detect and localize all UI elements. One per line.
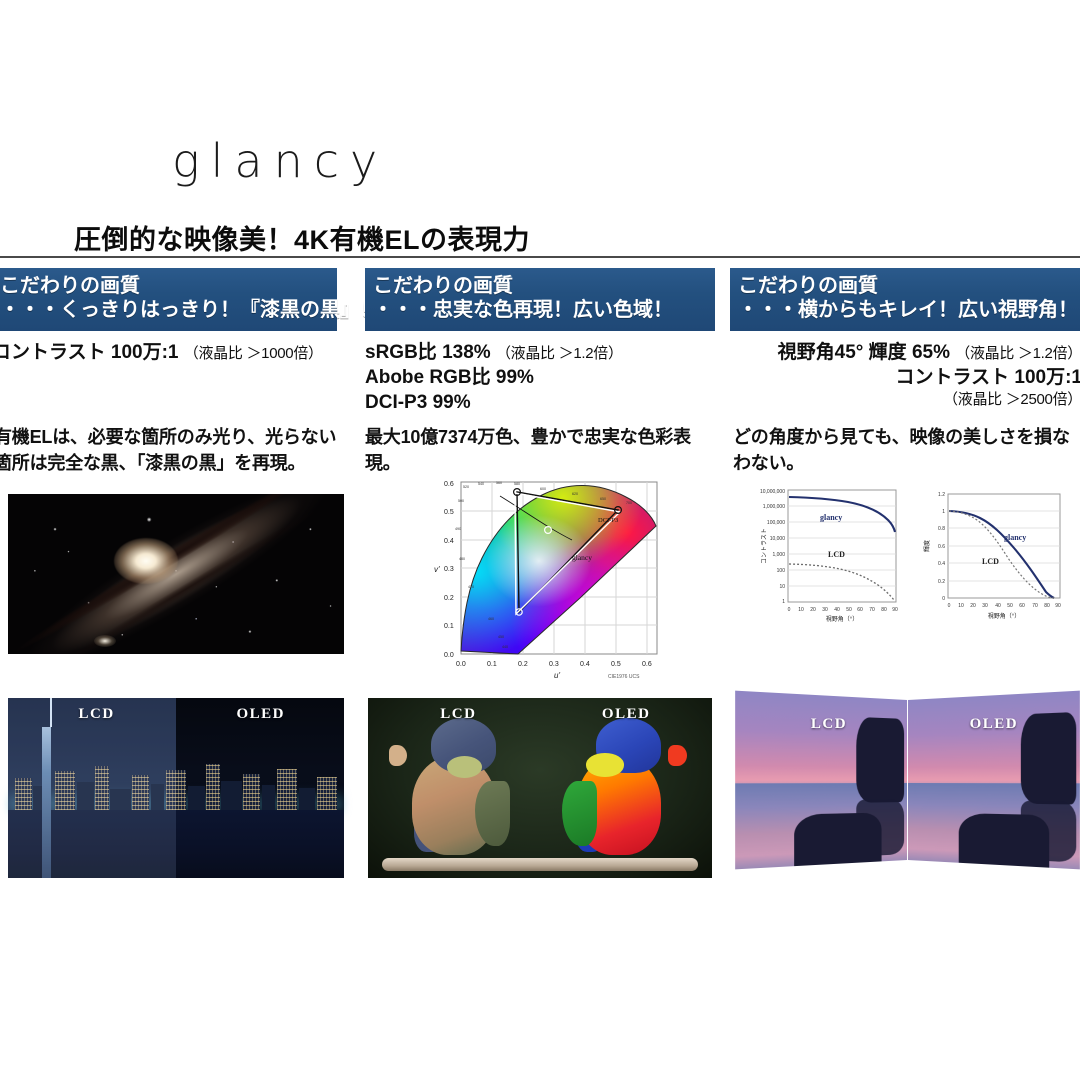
spec-block-2: sRGB比 138% （液晶比 ＞1.2倍） Abobe RGB比 99% DC… (365, 340, 717, 415)
svg-text:50: 50 (846, 607, 852, 613)
svg-text:0.4: 0.4 (938, 561, 945, 567)
parrot-beak (389, 745, 408, 766)
svg-text:650: 650 (600, 497, 606, 501)
svg-text:u': u' (554, 671, 560, 680)
svg-text:50: 50 (1007, 603, 1013, 609)
svg-text:60: 60 (857, 607, 863, 613)
svg-text:0.1: 0.1 (487, 661, 497, 668)
svg-text:80: 80 (881, 607, 887, 613)
viewing-angle-svg: glancy LCD 10,000,0001,000,000 100,00010… (736, 482, 1078, 648)
cie-svg: DCI-P3 glancy 520540560 580600620 650700… (430, 468, 674, 682)
svg-text:1,000: 1,000 (772, 552, 785, 558)
legend-lcd: LCD (982, 557, 999, 566)
xlabel-contrast: 視野角（°） (826, 615, 858, 623)
parrot-nape (447, 756, 482, 778)
viewing-angle-charts: glancy LCD 10,000,0001,000,000 100,00010… (736, 482, 1078, 648)
svg-text:0.6: 0.6 (444, 481, 454, 488)
svg-text:10: 10 (779, 584, 785, 590)
parrot-nape (586, 753, 623, 776)
svg-text:40: 40 (995, 603, 1001, 609)
svg-text:90: 90 (892, 607, 898, 613)
svg-text:0: 0 (788, 607, 791, 613)
ylabel-luminance: 輝度 (923, 540, 931, 552)
spec-sub: （液晶比 ＞1.2倍） (955, 345, 1080, 362)
ribbon-line1: こだわりの画質 (373, 274, 707, 298)
svg-text:10: 10 (798, 607, 804, 613)
parrot-lcd (396, 718, 513, 855)
svg-text:0.3: 0.3 (549, 661, 559, 668)
annotation-dci-p3: DCI-P3 (598, 517, 618, 524)
svg-text:30: 30 (982, 603, 988, 609)
title-divider (0, 256, 1080, 258)
svg-text:470: 470 (468, 585, 474, 589)
svg-text:100,000: 100,000 (767, 520, 785, 526)
svg-text:20: 20 (970, 603, 976, 609)
spec-sub: （液晶比 ＞1000倍） (184, 345, 323, 362)
label-lcd: LCD (79, 706, 115, 723)
spec-main: コントラスト 100万:1 (0, 342, 179, 363)
page-title: 圧倒的な映像美！4K有機ELの表現力 (74, 218, 530, 257)
svg-text:0.4: 0.4 (444, 538, 454, 545)
cie-chromaticity-diagram: DCI-P3 glancy 520540560 580600620 650700… (430, 468, 674, 682)
svg-text:460: 460 (488, 617, 494, 621)
svg-text:80: 80 (1044, 603, 1050, 609)
svg-text:1: 1 (782, 599, 785, 605)
spec-block-1: コントラスト 100万:1 （液晶比 ＞1000倍） (0, 340, 344, 365)
parrot-oled (561, 718, 678, 855)
svg-text:620: 620 (572, 492, 578, 496)
svg-text:70: 70 (1032, 603, 1038, 609)
x-ticks-contrast: 01020 304050 607080 90 (788, 607, 898, 613)
svg-text:1: 1 (942, 509, 945, 515)
ribbon-line2: ・・・横からもキレイ！広い視野角！ (738, 298, 1072, 322)
svg-text:1.2: 1.2 (938, 492, 945, 498)
xlabel-luminance: 視野角（°） (988, 612, 1020, 620)
comparison-city-night: LCD OLED (8, 698, 344, 878)
svg-text:0.2: 0.2 (444, 595, 454, 602)
svg-text:0.8: 0.8 (938, 526, 945, 532)
svg-text:10,000: 10,000 (770, 536, 786, 542)
svg-text:0: 0 (948, 603, 951, 609)
svg-text:100: 100 (777, 568, 786, 574)
svg-text:580: 580 (514, 482, 520, 486)
svg-text:480: 480 (459, 557, 465, 561)
foreground-rock (959, 813, 1050, 868)
galaxy-dust-lane (8, 494, 344, 654)
comparison-sunset-panels: LCD OLED (735, 690, 1080, 886)
svg-text:450: 450 (498, 635, 504, 639)
legend-glancy: glancy (820, 513, 842, 522)
svg-text:v': v' (434, 565, 440, 574)
svg-text:10,000,000: 10,000,000 (760, 489, 785, 495)
label-oled: OLED (236, 706, 285, 723)
svg-text:520: 520 (463, 485, 469, 489)
x-ticks-luminance: 01020 304050 607080 90 (948, 603, 1061, 609)
ribbon-banner-3: こだわりの画質 ・・・横からもキレイ！広い視野角！ (730, 268, 1080, 331)
svg-text:0.5: 0.5 (611, 661, 621, 668)
sea-stack (856, 717, 904, 803)
body-copy-1: 有機ELは、必要な箇所のみ光り、光らない箇所は完全な黒、「漆黒の黒」を再現。 (0, 425, 346, 476)
svg-text:700: 700 (626, 501, 632, 505)
feature-column-viewangle: こだわりの画質 ・・・横からもキレイ！広い視野角！ 視野角45° 輝度 65% … (730, 268, 1080, 410)
brand-logo: glancy (172, 138, 388, 184)
svg-text:600: 600 (540, 487, 546, 491)
foreground-rock (794, 813, 882, 867)
label-oled: OLED (602, 706, 651, 723)
svg-text:30: 30 (822, 607, 828, 613)
svg-text:0.0: 0.0 (456, 661, 466, 668)
ylabel-contrast: コントラスト (761, 528, 768, 564)
svg-text:90: 90 (1055, 603, 1061, 609)
svg-text:20: 20 (810, 607, 816, 613)
parrot-beak (668, 745, 687, 766)
svg-text:70: 70 (869, 607, 875, 613)
svg-text:0.0: 0.0 (444, 652, 454, 659)
galaxy-photo (8, 494, 344, 654)
svg-text:60: 60 (1019, 603, 1025, 609)
galaxy-core (114, 538, 178, 584)
svg-text:540: 540 (478, 482, 484, 486)
ribbon-banner-1: こだわりの画質 ・・・くっきりはっきり！『漆黒の黒』！ (0, 268, 337, 331)
ribbon-line1: こだわりの画質 (0, 274, 329, 298)
chart-contrast: glancy LCD 10,000,0001,000,000 100,00010… (760, 489, 898, 623)
label-lcd: LCD (440, 706, 476, 723)
svg-text:490: 490 (455, 527, 461, 531)
svg-text:40: 40 (834, 607, 840, 613)
spec-sub2: （液晶比 ＞2500倍） (730, 390, 1080, 410)
lcd-side-overlay (8, 698, 176, 878)
legend-lcd: LCD (828, 550, 845, 559)
ribbon-line1: こだわりの画質 (738, 274, 1072, 298)
svg-text:0: 0 (942, 596, 945, 602)
spec-sub: （液晶比 ＞1.2倍） (496, 345, 623, 362)
parrot-wing (475, 781, 510, 847)
spec-main: 視野角45° 輝度 65% (778, 342, 950, 363)
label-oled: OLED (970, 716, 1019, 733)
comparison-parrots: LCD OLED (368, 698, 712, 878)
svg-text:CIE1976 UCS: CIE1976 UCS (608, 674, 640, 680)
chart-luminance: glancy LCD 1.210.8 0.60.40.2 0 01020 304… (923, 492, 1061, 620)
ribbon-line2: ・・・くっきりはっきり！『漆黒の黒』！ (0, 298, 329, 322)
feature-column-black: こだわりの画質 ・・・くっきりはっきり！『漆黒の黒』！ コントラスト 100万:… (0, 268, 344, 365)
svg-text:0.5: 0.5 (444, 509, 454, 516)
svg-text:10: 10 (958, 603, 964, 609)
spec-extra: Abobe RGB比 99% (365, 365, 717, 390)
svg-text:440: 440 (502, 645, 508, 649)
ribbon-line2: ・・・忠実な色再現！広い色域！ (373, 298, 707, 322)
svg-text:0.3: 0.3 (444, 566, 454, 573)
spec-extra2: DCI-P3 99% (365, 390, 717, 415)
svg-text:1,000,000: 1,000,000 (763, 504, 785, 510)
svg-text:0.6: 0.6 (938, 544, 945, 550)
svg-text:0.4: 0.4 (580, 661, 590, 668)
body-copy-3: どの角度から見ても、映像の美しさを損なわない。 (733, 425, 1080, 476)
legend-glancy: glancy (1004, 533, 1026, 542)
svg-text:0.1: 0.1 (444, 623, 454, 630)
annotation-glancy: glancy (572, 553, 592, 562)
ribbon-banner-2: こだわりの画質 ・・・忠実な色再現！広い色域！ (365, 268, 715, 331)
label-lcd: LCD (811, 716, 847, 733)
satellite-galaxy (94, 635, 116, 647)
svg-text:0.2: 0.2 (938, 579, 945, 585)
poster-root: glancy 圧倒的な映像美！4K有機ELの表現力 こだわりの画質 ・・・くっき… (0, 0, 1080, 1080)
parrot-wing (562, 781, 597, 847)
spec-main: sRGB比 138% (365, 342, 491, 363)
y-ticks-luminance: 1.210.8 0.60.40.2 0 (938, 492, 945, 602)
spec-extra: コントラスト 100万:1 (730, 365, 1080, 390)
spec-block-3: 視野角45° 輝度 65% （液晶比 ＞1.2倍） コントラスト 100万:1 … (730, 340, 1080, 410)
feature-column-color: こだわりの画質 ・・・忠実な色再現！広い色域！ sRGB比 138% （液晶比 … (365, 268, 717, 415)
svg-text:0.2: 0.2 (518, 661, 528, 668)
perch-branch (382, 858, 698, 871)
svg-text:0.6: 0.6 (642, 661, 652, 668)
svg-text:500: 500 (458, 499, 464, 503)
sea-stack (1021, 712, 1076, 805)
svg-text:560: 560 (496, 481, 502, 485)
